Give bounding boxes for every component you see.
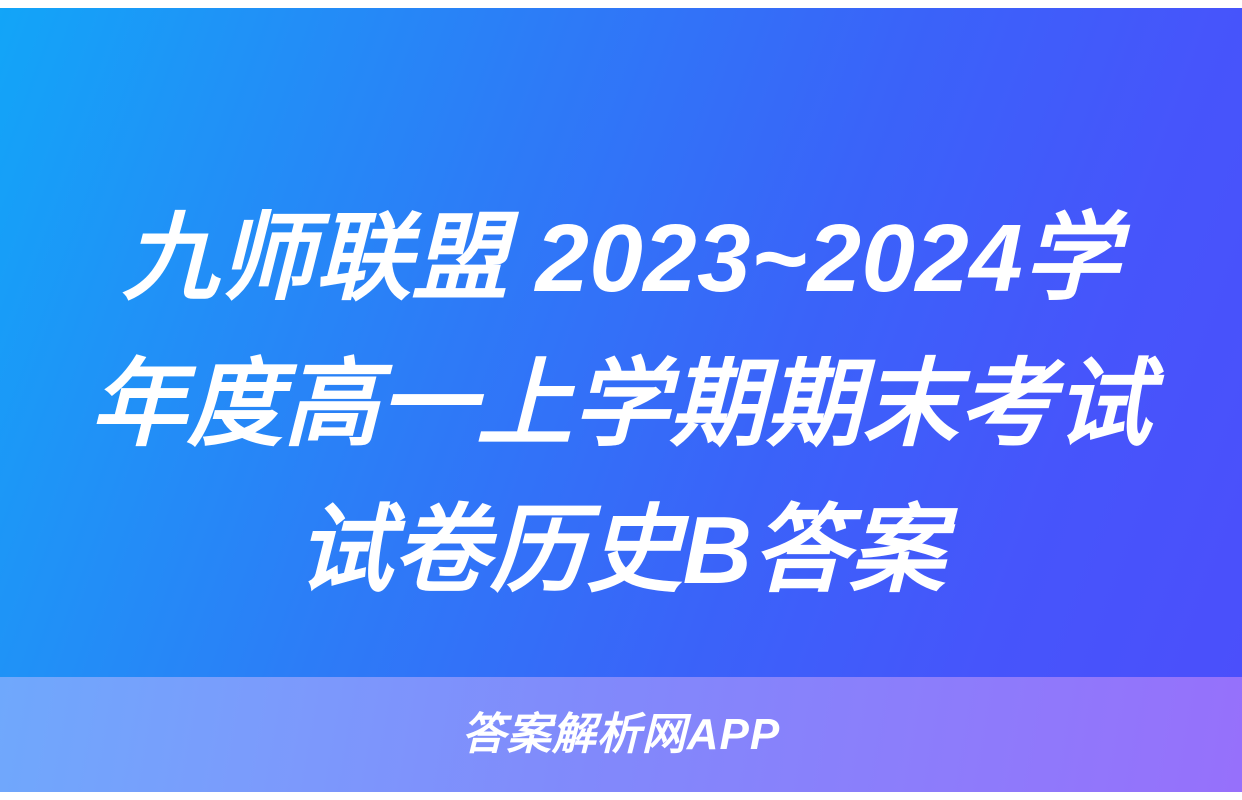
poster-title: 九师联盟 2023~2024学 年度高一上学期期末考试 试卷历史B答案: [0, 186, 1242, 624]
hero-gradient-panel: 九师联盟 2023~2024学 年度高一上学期期末考试 试卷历史B答案: [0, 8, 1242, 677]
poster-title-line-3: 试卷历史B答案: [0, 478, 1242, 624]
poster-canvas: 九师联盟 2023~2024学 年度高一上学期期末考试 试卷历史B答案 答案解析…: [0, 0, 1242, 800]
poster-title-line-2: 年度高一上学期期末考试: [0, 332, 1242, 478]
poster-title-line-1: 九师联盟 2023~2024学: [0, 186, 1242, 332]
footer-brand-label: 答案解析网APP: [462, 713, 780, 757]
footer-brand-banner: 答案解析网APP: [0, 677, 1242, 792]
